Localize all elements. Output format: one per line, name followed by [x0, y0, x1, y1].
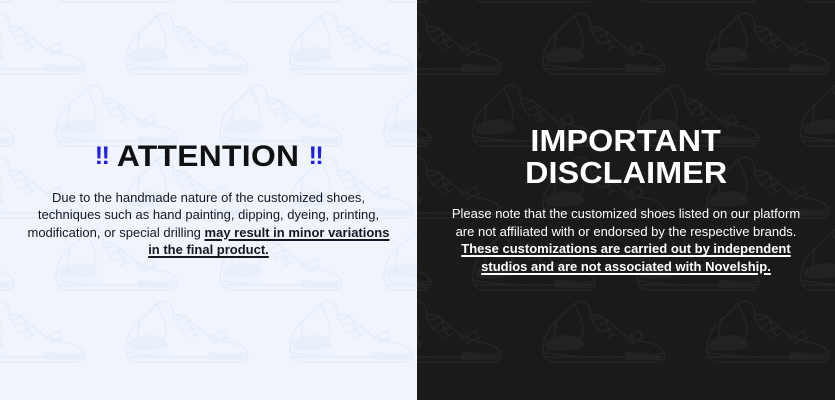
sneaker-icon [463, 0, 603, 8]
sneaker-icon [791, 0, 835, 8]
sneaker-icon [627, 0, 767, 8]
exclamation-right-icon: !! [309, 144, 323, 169]
sneaker-icon [417, 2, 509, 80]
sneaker-icon [116, 2, 256, 80]
disclaimer-body: Please note that the customized shoes li… [443, 205, 809, 275]
exclamation-left-icon: !! [95, 144, 109, 169]
pattern-row [417, 290, 835, 368]
disclaimer-body-plain: Please note that the customized shoes li… [452, 206, 800, 239]
sneaker-icon [0, 290, 92, 368]
attention-content: !! ATTENTION !! Due to the handmade natu… [0, 141, 417, 259]
attention-body: Due to the handmade nature of the custom… [26, 189, 391, 259]
attention-heading: !! ATTENTION !! [26, 141, 391, 173]
disclaimer-body-emphasis: These customizations are carried out by … [461, 241, 790, 274]
disclaimer-heading-line-2: DISCLAIMER [525, 157, 727, 189]
sneaker-icon [533, 290, 673, 368]
disclaimer-heading-line-1: IMPORTANT [531, 125, 722, 157]
sneaker-icon [697, 290, 835, 368]
sneaker-icon [280, 290, 417, 368]
pattern-row [417, 0, 835, 8]
sneaker-icon [374, 0, 417, 8]
sneaker-icon [417, 0, 439, 8]
sneaker-icon [417, 290, 509, 368]
sneaker-icon [210, 0, 350, 8]
attention-heading-text: ATTENTION [117, 141, 299, 173]
sneaker-icon [697, 2, 835, 80]
pattern-row [0, 0, 417, 8]
disclaimer-heading: IMPORTANT DISCLAIMER [443, 125, 809, 189]
sneaker-icon [0, 2, 92, 80]
pattern-row [417, 2, 835, 80]
pattern-row [0, 290, 417, 368]
pattern-row [0, 2, 417, 80]
attention-panel: !! ATTENTION !! Due to the handmade natu… [0, 0, 417, 400]
sneaker-icon [533, 2, 673, 80]
disclaimer-panel: IMPORTANT DISCLAIMER Please note that th… [417, 0, 835, 400]
sneaker-icon [280, 2, 417, 80]
sneaker-icon [116, 290, 256, 368]
disclaimer-content: IMPORTANT DISCLAIMER Please note that th… [417, 125, 835, 275]
sneaker-icon [46, 0, 186, 8]
sneaker-icon [0, 0, 22, 8]
